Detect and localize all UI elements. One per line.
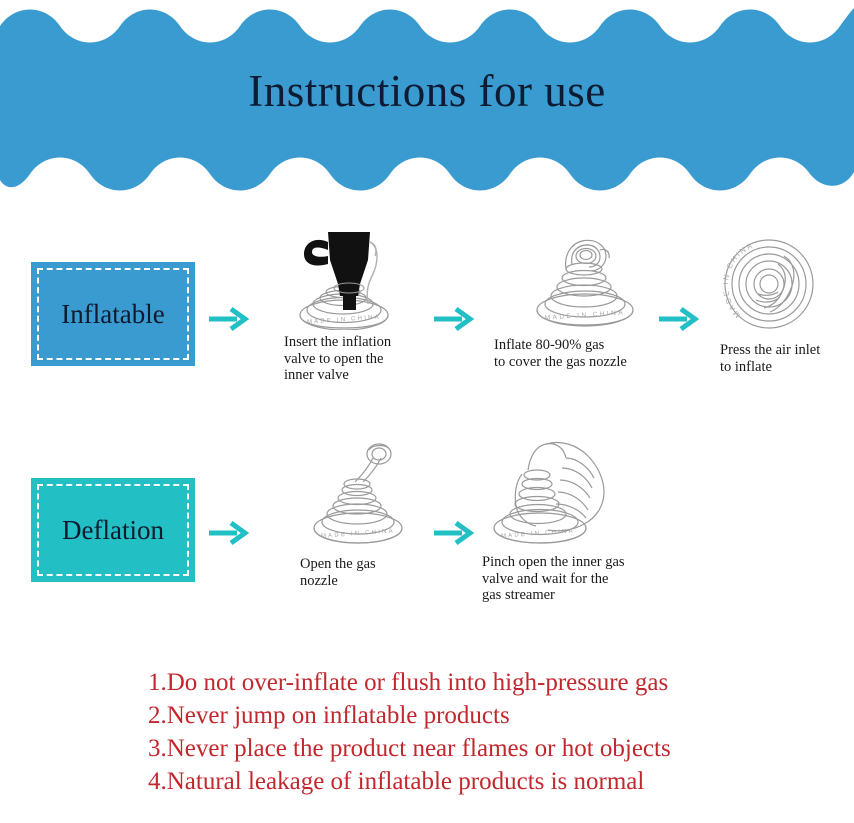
step-cell-inflatable-1: MADE IN CHINA — [268, 220, 420, 384]
arrow-right-icon — [207, 518, 251, 548]
step-caption-inflatable-1: Insert the inflation valve to open the i… — [268, 334, 420, 384]
arrow-right-icon — [657, 304, 701, 334]
step-caption-deflation-1: Open the gas nozzle — [280, 556, 440, 589]
arrow-right-icon — [432, 304, 476, 334]
step-caption-deflation-2: Pinch open the inner gas valve and wait … — [472, 554, 692, 604]
arrow-right-icon — [432, 518, 476, 548]
warning-item-3: 3.Never place the product near flames or… — [148, 732, 854, 765]
arrow-right-icon — [207, 304, 251, 334]
valve-cap-open-icon: MADE IN CHINA — [301, 440, 419, 548]
valve-inflating-icon: MADE IN CHINA — [520, 224, 650, 329]
category-box-inflatable[interactable]: Inflatable — [31, 262, 195, 366]
category-label-deflation: Deflation — [62, 515, 164, 545]
arrow-icon-inflatable-2 — [432, 304, 476, 334]
valve-top-view-press-icon: MADE IN CHINA — [714, 234, 824, 332]
arrow-icon-deflation-1 — [207, 518, 251, 548]
warning-item-4: 4.Natural leakage of inflatable products… — [148, 765, 854, 798]
svg-text:MADE IN CHINA: MADE IN CHINA — [545, 309, 626, 322]
section-deflation: Deflation — [0, 430, 854, 620]
header-banner: Instructions for use — [0, 0, 854, 200]
step-cell-deflation-2: MADE IN CHINA Pinch open the inner gas v… — [472, 434, 692, 604]
arrow-icon-inflatable-3 — [657, 304, 701, 334]
page-title: Instructions for use — [0, 62, 854, 120]
step-cell-deflation-1: MADE IN CHINA Open the gas nozzle — [280, 440, 440, 589]
step-cell-inflatable-2: MADE IN CHINA Inflate 80-90% gas to cove… — [492, 224, 678, 370]
pump-nozzle-inserted-icon: MADE IN CHINA — [284, 220, 404, 330]
svg-text:MADE IN CHINA: MADE IN CHINA — [307, 314, 381, 325]
category-label-inflatable: Inflatable — [61, 299, 164, 329]
step-caption-inflatable-3: Press the air inlet to inflate — [706, 342, 854, 375]
arrow-icon-inflatable-1 — [207, 304, 251, 334]
arrow-icon-deflation-2 — [432, 518, 476, 548]
warning-item-1: 1.Do not over-inflate or flush into high… — [148, 666, 854, 699]
warning-list: 1.Do not over-inflate or flush into high… — [148, 666, 854, 798]
step-caption-inflatable-2: Inflate 80-90% gas to cover the gas nozz… — [492, 337, 678, 370]
category-box-deflation[interactable]: Deflation — [31, 478, 195, 582]
warning-item-2: 2.Never jump on inflatable products — [148, 699, 854, 732]
step-cell-inflatable-3: MADE IN CHINA Press the air inlet to inf… — [706, 234, 854, 375]
hand-pinch-valve-icon: MADE IN CHINA — [476, 434, 618, 550]
section-inflatable: Inflatable MADE IN CHINA — [0, 220, 854, 400]
